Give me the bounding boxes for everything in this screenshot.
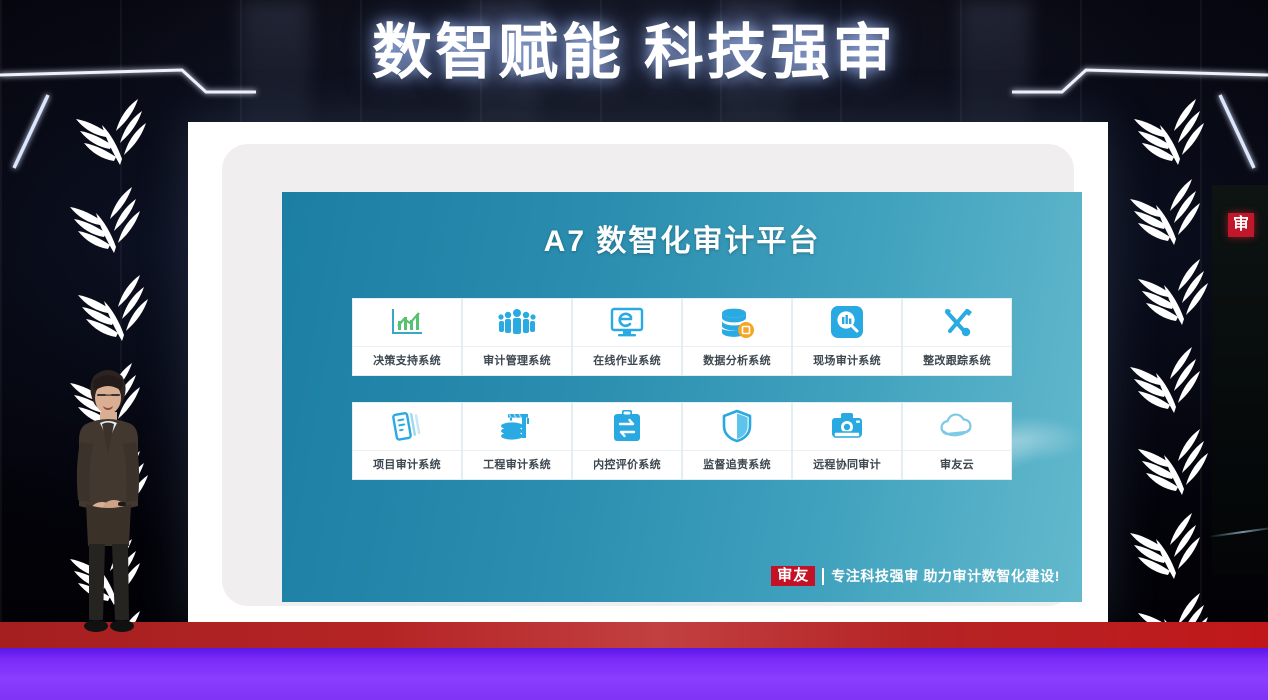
slide-footer: 审友 专注科技强审 助力审计数智化建设! bbox=[771, 566, 1060, 586]
card-label: 远程协同审计 bbox=[793, 451, 901, 479]
card-label: 内控评价系统 bbox=[573, 451, 681, 479]
card-supervision-accountability[interactable]: 监督追责系统 bbox=[682, 402, 792, 480]
brand-logo: 审友 bbox=[771, 566, 815, 586]
card-label: 审计管理系统 bbox=[463, 347, 571, 375]
document-book-icon bbox=[353, 403, 461, 451]
construction-crane-icon bbox=[463, 403, 571, 451]
right-wall-panel: 审 bbox=[1212, 185, 1268, 575]
tools-wrench-screwdriver-icon bbox=[903, 299, 1011, 347]
card-rectification-tracking[interactable]: 整改跟踪系统 bbox=[902, 298, 1012, 376]
monitor-e-icon bbox=[573, 299, 681, 347]
screen-inner-panel: A7 数智化审计平台 bbox=[222, 144, 1074, 606]
card-label: 决策支持系统 bbox=[353, 347, 461, 375]
system-card-grid: 决策支持系统 bbox=[352, 298, 1012, 480]
stage-floor bbox=[0, 648, 1268, 700]
slide-title: A7 数智化审计平台 bbox=[282, 216, 1082, 260]
people-group-icon bbox=[463, 299, 571, 347]
brand-tagline: 专注科技强审 助力审计数智化建设! bbox=[831, 566, 1060, 586]
projection-screen: A7 数智化审计平台 bbox=[188, 122, 1108, 624]
presentation-slide: A7 数智化审计平台 bbox=[282, 192, 1082, 602]
card-label: 在线作业系统 bbox=[573, 347, 681, 375]
light-streak bbox=[1208, 526, 1268, 538]
shield-icon bbox=[683, 403, 791, 451]
card-shenyou-cloud[interactable]: 审友云 bbox=[902, 402, 1012, 480]
brand-mini-logo: 审 bbox=[1228, 213, 1254, 237]
card-audit-management[interactable]: 审计管理系统 bbox=[462, 298, 572, 376]
card-internal-control[interactable]: 内控评价系统 bbox=[572, 402, 682, 480]
card-label: 整改跟踪系统 bbox=[903, 347, 1011, 375]
database-icon bbox=[683, 299, 791, 347]
clipboard-exchange-icon bbox=[573, 403, 681, 451]
card-label: 审友云 bbox=[903, 451, 1011, 479]
card-onsite-audit[interactable]: 现场审计系统 bbox=[792, 298, 902, 376]
card-project-audit[interactable]: 项目审计系统 bbox=[352, 402, 462, 480]
cloud-icon bbox=[903, 403, 1011, 451]
stage-red-band bbox=[0, 622, 1268, 648]
card-label: 工程审计系统 bbox=[463, 451, 571, 479]
card-label: 项目审计系统 bbox=[353, 451, 461, 479]
card-remote-collaboration[interactable]: 远程协同审计 bbox=[792, 402, 902, 480]
camera-icon bbox=[793, 403, 901, 451]
stage-headline: 数智赋能 科技强审 bbox=[0, 4, 1268, 91]
presenter-figure bbox=[56, 358, 160, 656]
magnifier-chart-icon bbox=[793, 299, 901, 347]
broadcast-stage: 数智赋能 科技强审 bbox=[0, 0, 1268, 700]
card-engineering-audit[interactable]: 工程审计系统 bbox=[462, 402, 572, 480]
bar-chart-line-icon bbox=[353, 299, 461, 347]
brand-divider bbox=[822, 568, 824, 585]
card-label: 监督追责系统 bbox=[683, 451, 791, 479]
card-data-analysis[interactable]: 数据分析系统 bbox=[682, 298, 792, 376]
card-label: 现场审计系统 bbox=[793, 347, 901, 375]
card-online-work[interactable]: 在线作业系统 bbox=[572, 298, 682, 376]
card-decision-support[interactable]: 决策支持系统 bbox=[352, 298, 462, 376]
card-label: 数据分析系统 bbox=[683, 347, 791, 375]
